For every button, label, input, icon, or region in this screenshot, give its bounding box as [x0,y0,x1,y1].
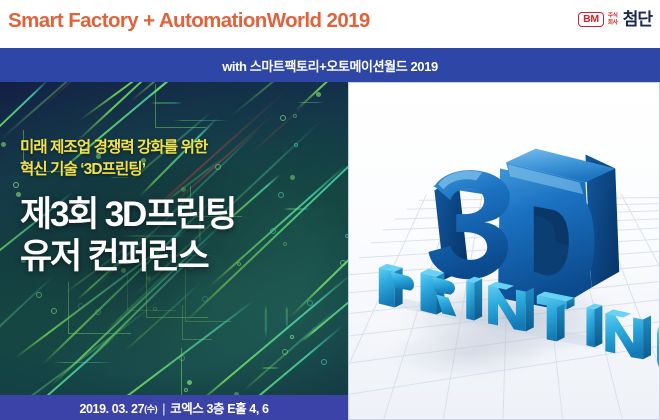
event-title: Smart Factory + AutomationWorld 2019 [8,9,370,33]
bm-logo-mark: BM [578,12,604,28]
event-venue: 코엑스 3층 E홀 4, 6 [170,402,268,416]
three-d-printing-artwork [349,83,659,419]
event-info-bar: 2019. 03. 27(수)|코엑스 3층 E홀 4, 6 [0,395,348,420]
subtitle-bar: with 스마트팩토리+오토메이션월드 2019 [0,48,660,82]
poster-body: 미래 제조업 경쟁력 강화를 위한 혁신 기술 ‘3D프린팅’ 제3회 3D프린… [0,82,660,420]
corp-name: 첨단 [623,11,652,28]
corp-prefix-line2: 회사 [608,20,618,27]
event-weekday: (수) [144,404,157,414]
corp-prefix-line1: 주식 [608,13,618,20]
poster-left-panel: 미래 제조업 경쟁력 강화를 위한 혁신 기술 ‘3D프린팅’ 제3회 3D프린… [0,82,348,420]
brand-logo: BM 주식 회사 첨단 [578,11,652,28]
event-date: 2019. 03. 27 [79,402,144,416]
poster-right-panel [348,82,660,420]
event-info-text: 2019. 03. 27(수)|코엑스 3층 E홀 4, 6 [79,398,268,417]
corp-prefix: 주식 회사 [608,13,618,26]
info-separator: | [157,402,170,416]
poster-copy: 미래 제조업 경쟁력 강화를 위한 혁신 기술 ‘3D프린팅’ 제3회 3D프린… [20,137,340,278]
page-header: Smart Factory + AutomationWorld 2019 BM … [0,0,660,48]
poster-kicker: 미래 제조업 경쟁력 강화를 위한 혁신 기술 ‘3D프린팅’ [20,137,340,181]
banner-page: Smart Factory + AutomationWorld 2019 BM … [0,0,660,420]
subtitle-bar-text: with 스마트팩토리+오토메이션월드 2019 [222,56,438,75]
poster-headline: 제3회 3D프린팅 유저 컨퍼런스 [20,194,340,278]
